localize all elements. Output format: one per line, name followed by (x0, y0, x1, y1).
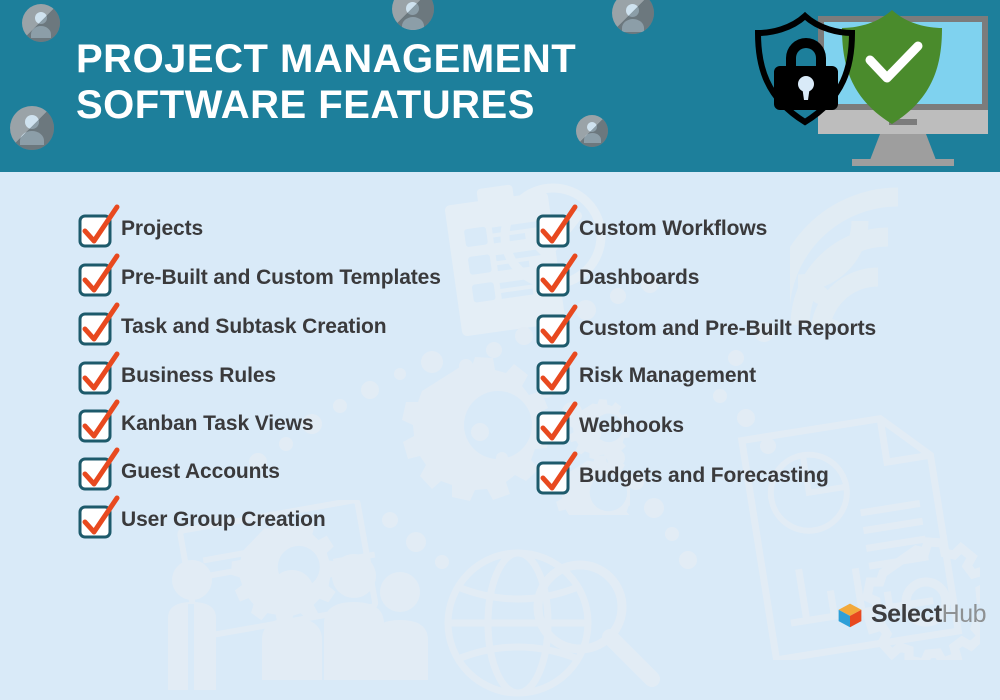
checked-checkbox-icon[interactable] (536, 461, 566, 491)
user-avatar-icon (612, 0, 654, 34)
page-title: PROJECT MANAGEMENT SOFTWARE FEATURES (76, 36, 576, 128)
checked-checkbox-icon[interactable] (78, 409, 108, 439)
feature-label: Risk Management (579, 364, 756, 388)
list-item[interactable]: Custom Workflows (536, 212, 767, 246)
infographic-canvas: PROJECT MANAGEMENT SOFTWARE FEATURES (0, 0, 1000, 700)
list-item[interactable]: Projects (78, 212, 203, 246)
checked-checkbox-icon[interactable] (536, 263, 566, 293)
list-item[interactable]: Business Rules (78, 359, 276, 393)
logo-primary-text: Select (871, 600, 942, 628)
feature-label: Custom and Pre-Built Reports (579, 317, 876, 341)
feature-label: Pre-Built and Custom Templates (121, 266, 441, 290)
list-item[interactable]: Risk Management (536, 359, 756, 393)
checked-checkbox-icon[interactable] (536, 411, 566, 441)
logo-secondary-text: Hub (942, 600, 986, 628)
user-avatar-icon (576, 115, 608, 147)
checked-checkbox-icon[interactable] (78, 312, 108, 342)
feature-label: Guest Accounts (121, 460, 280, 484)
list-item[interactable]: Guest Accounts (78, 455, 280, 489)
list-item[interactable]: Budgets and Forecasting (536, 459, 829, 493)
selecthub-cube-logo-icon (836, 601, 864, 629)
feature-label: Webhooks (579, 414, 684, 438)
feature-label: Budgets and Forecasting (579, 464, 829, 488)
selecthub-logo[interactable]: SelectHub (836, 600, 986, 629)
list-item[interactable]: Kanban Task Views (78, 407, 313, 441)
list-item[interactable]: Webhooks (536, 409, 684, 443)
checked-checkbox-icon[interactable] (536, 214, 566, 244)
list-item[interactable]: Custom and Pre-Built Reports (536, 312, 876, 346)
list-item[interactable]: Dashboards (536, 261, 699, 295)
checked-checkbox-icon[interactable] (78, 457, 108, 487)
checked-checkbox-icon[interactable] (78, 214, 108, 244)
security-monitor-illustration (742, 2, 992, 172)
checked-checkbox-icon[interactable] (78, 263, 108, 293)
feature-label: Kanban Task Views (121, 412, 313, 436)
feature-label: Task and Subtask Creation (121, 315, 387, 339)
list-item[interactable]: Task and Subtask Creation (78, 310, 387, 344)
feature-label: User Group Creation (121, 508, 326, 532)
checked-checkbox-icon[interactable] (536, 314, 566, 344)
user-avatar-icon (22, 4, 60, 42)
checked-checkbox-icon[interactable] (536, 361, 566, 391)
list-item[interactable]: Pre-Built and Custom Templates (78, 261, 441, 295)
user-avatar-icon (10, 106, 54, 150)
checked-checkbox-icon[interactable] (78, 361, 108, 391)
feature-label: Projects (121, 217, 203, 241)
checked-checkbox-icon[interactable] (78, 505, 108, 535)
feature-label: Dashboards (579, 266, 699, 290)
user-avatar-icon (392, 0, 434, 30)
feature-label: Custom Workflows (579, 217, 767, 241)
header-banner: PROJECT MANAGEMENT SOFTWARE FEATURES (0, 0, 1000, 172)
list-item[interactable]: User Group Creation (78, 503, 326, 537)
feature-label: Business Rules (121, 364, 276, 388)
